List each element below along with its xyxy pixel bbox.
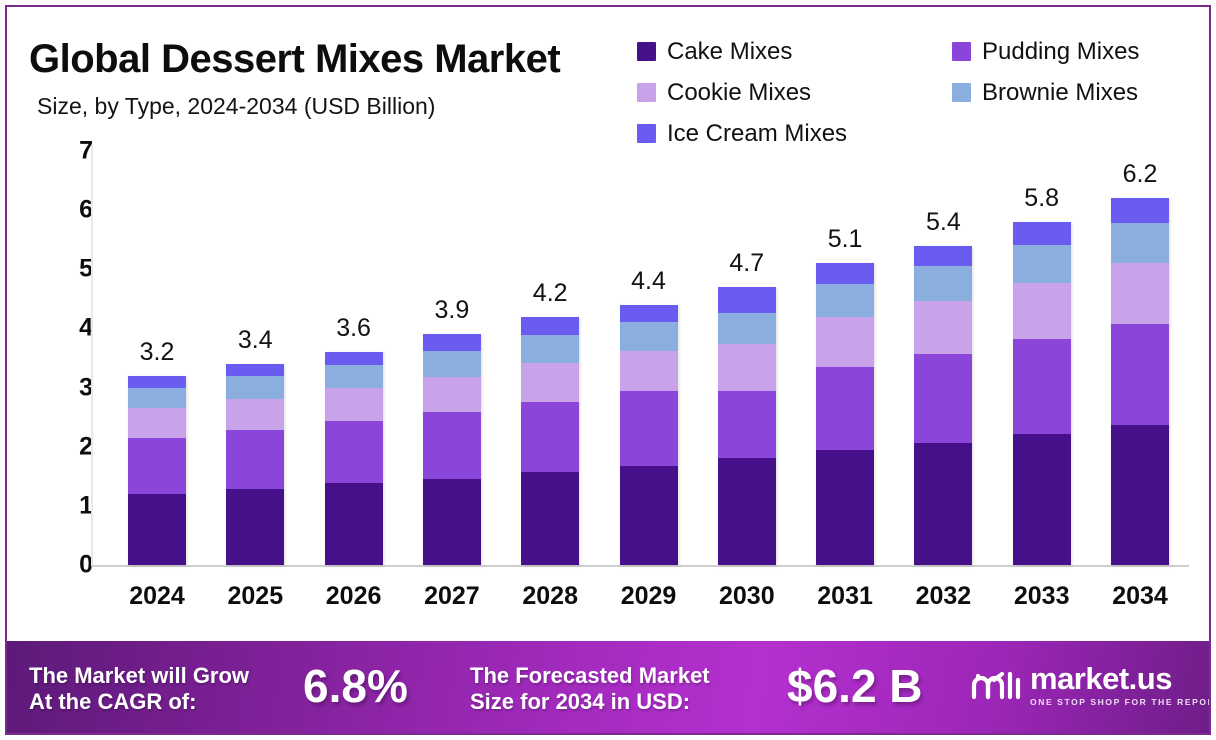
bar-segment-pudding-mixes[interactable] (325, 421, 383, 483)
legend-row-3: Ice Cream Mixes (637, 113, 1197, 154)
legend-swatch-icon (637, 83, 656, 102)
legend-item-cake-mixes[interactable]: Cake Mixes (637, 40, 952, 64)
bar-segment-brownie-mixes[interactable] (521, 335, 579, 363)
bar-segment-pudding-mixes[interactable] (226, 430, 284, 489)
legend-swatch-icon (952, 83, 971, 102)
bar-segment-pudding-mixes[interactable] (521, 402, 579, 472)
bar-segment-ice-cream-mixes[interactable] (521, 317, 579, 335)
bar-value-label-2034: 6.2 (1111, 160, 1169, 189)
bar-segment-ice-cream-mixes[interactable] (325, 352, 383, 364)
bar-segment-cake-mixes[interactable] (816, 450, 874, 565)
bar-segment-cookie-mixes[interactable] (914, 301, 972, 354)
bar-segment-cake-mixes[interactable] (521, 472, 579, 565)
bar-segment-brownie-mixes[interactable] (620, 322, 678, 351)
bar-segment-cookie-mixes[interactable] (1013, 283, 1071, 339)
page-subtitle: Size, by Type, 2024-2034 (USD Billion) (37, 93, 435, 120)
bar-value-label-2030: 4.7 (718, 249, 776, 278)
bar-segment-pudding-mixes[interactable] (1013, 339, 1071, 434)
bar-segment-pudding-mixes[interactable] (620, 391, 678, 466)
bar-segment-cookie-mixes[interactable] (718, 344, 776, 390)
bar-segment-cake-mixes[interactable] (1111, 425, 1169, 565)
bar-stack-2033[interactable] (1013, 222, 1071, 565)
legend-row-1: Cake Mixes Pudding Mixes (637, 31, 1197, 72)
market-us-logo-text: market.us ONE STOP SHOP FOR THE REPORTS (1030, 663, 1211, 707)
bar-value-label-2029: 4.4 (620, 267, 678, 296)
legend-item-brownie-mixes[interactable]: Brownie Mixes (952, 81, 1138, 105)
bar-segment-cake-mixes[interactable] (226, 489, 284, 565)
x-axis-label-2033: 2033 (1013, 582, 1071, 611)
bar-segment-cookie-mixes[interactable] (816, 317, 874, 367)
bar-segment-cookie-mixes[interactable] (1111, 263, 1169, 323)
bar-segment-cake-mixes[interactable] (325, 483, 383, 565)
bar-segment-ice-cream-mixes[interactable] (816, 263, 874, 283)
x-axis-label-2029: 2029 (620, 582, 678, 611)
bar-segment-brownie-mixes[interactable] (1111, 223, 1169, 264)
bar-value-label-2028: 4.2 (521, 279, 579, 308)
cagr-label-line2: At the CAGR of: (29, 689, 249, 715)
x-axis-label-2031: 2031 (816, 582, 874, 611)
market-us-logo[interactable]: market.us ONE STOP SHOP FOR THE REPORTS (970, 663, 1211, 707)
cagr-value: 6.8% (303, 663, 408, 709)
bar-stack-2029[interactable] (620, 305, 678, 565)
bar-value-label-2033: 5.8 (1013, 184, 1071, 213)
bar-stack-2032[interactable] (914, 246, 972, 565)
chart-legend: Cake Mixes Pudding Mixes Cookie Mixes Br… (637, 31, 1197, 154)
bar-segment-cookie-mixes[interactable] (620, 351, 678, 391)
y-axis-tick-3: 3 (53, 373, 93, 402)
bar-segment-ice-cream-mixes[interactable] (1111, 198, 1169, 222)
x-axis-label-2034: 2034 (1111, 582, 1169, 611)
bottom-banner: The Market will Grow At the CAGR of: 6.8… (7, 641, 1211, 733)
bar-segment-ice-cream-mixes[interactable] (423, 334, 481, 351)
legend-swatch-icon (637, 42, 656, 61)
legend-label: Ice Cream Mixes (667, 122, 847, 146)
bar-value-label-2026: 3.6 (325, 314, 383, 343)
banner-content: The Market will Grow At the CAGR of: 6.8… (7, 641, 1211, 733)
bar-segment-pudding-mixes[interactable] (423, 412, 481, 478)
y-axis-tick-6: 6 (53, 196, 93, 225)
bar-segment-cake-mixes[interactable] (914, 443, 972, 565)
bar-segment-brownie-mixes[interactable] (423, 351, 481, 377)
bar-segment-pudding-mixes[interactable] (1111, 324, 1169, 426)
bar-segment-cake-mixes[interactable] (718, 458, 776, 565)
legend-item-cookie-mixes[interactable]: Cookie Mixes (637, 81, 952, 105)
cagr-label: The Market will Grow At the CAGR of: (29, 663, 249, 715)
x-axis-label-2027: 2027 (423, 582, 481, 611)
bar-segment-brownie-mixes[interactable] (1013, 245, 1071, 283)
page-title: Global Dessert Mixes Market (29, 37, 560, 82)
forecast-size-label-line1: The Forecasted Market (470, 663, 710, 689)
bar-segment-pudding-mixes[interactable] (816, 367, 874, 450)
bar-segment-pudding-mixes[interactable] (128, 438, 186, 494)
x-axis-label-2024: 2024 (128, 582, 186, 611)
bar-segment-cookie-mixes[interactable] (128, 408, 186, 438)
logo-tagline: ONE STOP SHOP FOR THE REPORTS (1030, 697, 1211, 707)
bar-stack-2027[interactable] (423, 334, 481, 565)
bar-segment-pudding-mixes[interactable] (718, 391, 776, 458)
bar-segment-brownie-mixes[interactable] (325, 365, 383, 389)
y-axis-line (91, 145, 93, 567)
bar-segment-brownie-mixes[interactable] (914, 266, 972, 301)
legend-swatch-icon (952, 42, 971, 61)
bar-value-label-2031: 5.1 (816, 225, 874, 254)
bar-stack-2034[interactable] (1111, 198, 1169, 565)
legend-label: Brownie Mixes (982, 81, 1138, 105)
chart-frame: Global Dessert Mixes Market Size, by Typ… (5, 5, 1211, 735)
y-axis-tick-0: 0 (53, 551, 93, 580)
bar-segment-ice-cream-mixes[interactable] (226, 364, 284, 376)
x-axis-label-2025: 2025 (226, 582, 284, 611)
bar-segment-brownie-mixes[interactable] (226, 376, 284, 398)
bar-segment-cake-mixes[interactable] (1013, 434, 1071, 565)
bar-value-label-2024: 3.2 (128, 338, 186, 367)
forecast-size-label: The Forecasted Market Size for 2034 in U… (470, 663, 710, 715)
bar-segment-brownie-mixes[interactable] (816, 284, 874, 317)
cagr-label-line1: The Market will Grow (29, 663, 249, 689)
x-axis-label-2030: 2030 (718, 582, 776, 611)
bar-stack-2024[interactable] (128, 376, 186, 565)
bar-stack-2025[interactable] (226, 364, 284, 565)
legend-label: Cookie Mixes (667, 81, 811, 105)
legend-item-ice-cream-mixes[interactable]: Ice Cream Mixes (637, 122, 952, 146)
y-axis-tick-5: 5 (53, 255, 93, 284)
bar-segment-ice-cream-mixes[interactable] (914, 246, 972, 267)
bar-segment-cake-mixes[interactable] (620, 466, 678, 565)
bar-segment-pudding-mixes[interactable] (914, 354, 972, 443)
bar-segment-brownie-mixes[interactable] (128, 388, 186, 409)
bar-segment-cake-mixes[interactable] (128, 494, 186, 565)
forecast-size-label-line2: Size for 2034 in USD: (470, 689, 710, 715)
bar-value-label-2027: 3.9 (423, 296, 481, 325)
bar-segment-cake-mixes[interactable] (423, 479, 481, 565)
bar-segment-ice-cream-mixes[interactable] (620, 305, 678, 322)
bar-segment-cookie-mixes[interactable] (423, 377, 481, 412)
forecast-size-value: $6.2 B (787, 663, 923, 709)
bar-segment-ice-cream-mixes[interactable] (128, 376, 186, 388)
legend-label: Cake Mixes (667, 40, 792, 64)
legend-swatch-icon (637, 124, 656, 143)
bar-segment-cookie-mixes[interactable] (226, 399, 284, 430)
bar-segment-ice-cream-mixes[interactable] (718, 287, 776, 313)
legend-label: Pudding Mixes (982, 40, 1139, 64)
x-axis-line (91, 565, 1189, 567)
y-axis-tick-4: 4 (53, 314, 93, 343)
bar-value-label-2025: 3.4 (226, 326, 284, 355)
bar-segment-cookie-mixes[interactable] (521, 363, 579, 402)
legend-item-pudding-mixes[interactable]: Pudding Mixes (952, 40, 1139, 64)
logo-wordmark: market.us (1030, 663, 1211, 694)
y-axis-tick-1: 1 (53, 491, 93, 520)
y-axis-tick-7: 7 (53, 137, 93, 166)
bar-segment-cookie-mixes[interactable] (325, 388, 383, 421)
bar-stack-2026[interactable] (325, 352, 383, 565)
market-us-logo-mark-icon (970, 667, 1022, 703)
legend-row-2: Cookie Mixes Brownie Mixes (637, 72, 1197, 113)
x-axis-label-2026: 2026 (325, 582, 383, 611)
bar-stack-2031[interactable] (816, 263, 874, 565)
bar-value-label-2032: 5.4 (914, 208, 972, 237)
bar-stack-2030[interactable] (718, 287, 776, 565)
x-axis-label-2028: 2028 (521, 582, 579, 611)
x-axis-label-2032: 2032 (914, 582, 972, 611)
y-axis: 01234567 (53, 137, 93, 577)
bar-stack-2028[interactable] (521, 317, 579, 565)
bar-segment-brownie-mixes[interactable] (718, 313, 776, 344)
infographic-root: Global Dessert Mixes Market Size, by Typ… (0, 0, 1216, 740)
bar-segment-ice-cream-mixes[interactable] (1013, 222, 1071, 245)
y-axis-tick-2: 2 (53, 432, 93, 461)
